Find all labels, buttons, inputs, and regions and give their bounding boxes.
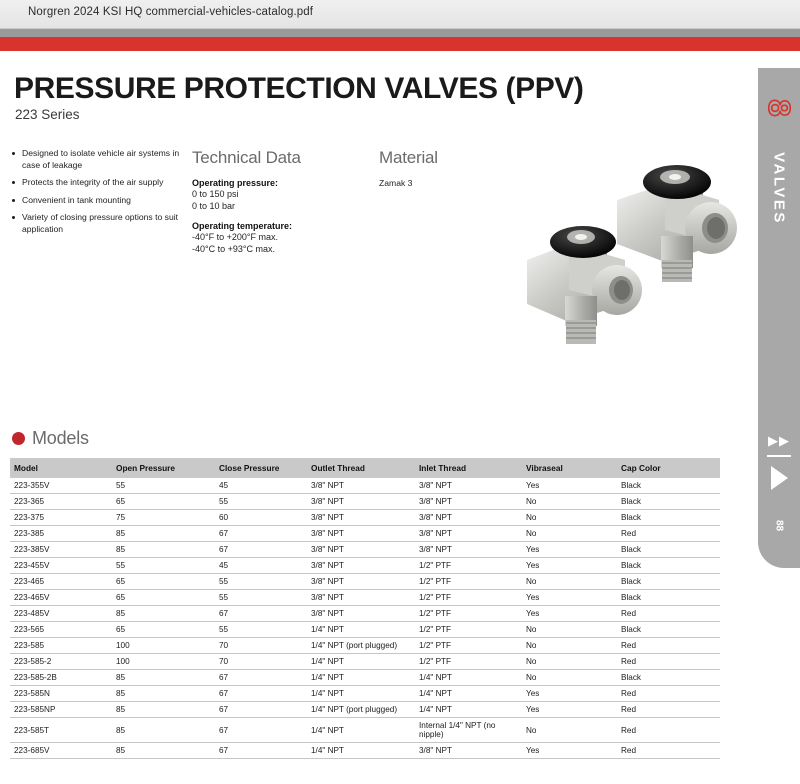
- cell-vibraseal: Yes: [522, 590, 617, 606]
- cell-vibraseal: Yes: [522, 478, 617, 494]
- cell-vibraseal: Yes: [522, 558, 617, 574]
- cell-model: 223-385V: [10, 542, 112, 558]
- list-item: Designed to isolate vehicle air systems …: [10, 148, 185, 171]
- table-row: 223-36565553/8" NPT3/8" NPTNoBlack: [10, 494, 720, 510]
- column-header-close-pressure: Close Pressure: [215, 458, 307, 478]
- cell-outlet-thread: 3/8" NPT: [307, 606, 415, 622]
- cell-cap-color: Black: [617, 558, 720, 574]
- column-header-outlet-thread: Outlet Thread: [307, 458, 415, 478]
- cell-open-pressure: 85: [112, 686, 215, 702]
- cell-vibraseal: No: [522, 654, 617, 670]
- cell-cap-color: Black: [617, 574, 720, 590]
- cell-outlet-thread: 1/4" NPT: [307, 654, 415, 670]
- cell-model: 223-585-2B: [10, 670, 112, 686]
- cell-model: 223-585NP: [10, 702, 112, 718]
- table-body: 223-355V55453/8" NPT3/8" NPTYesBlack223-…: [10, 478, 720, 759]
- cell-model: 223-465: [10, 574, 112, 590]
- models-table: Model Open Pressure Close Pressure Outle…: [10, 458, 720, 759]
- table-row: 223-485V85673/8" NPT1/2" PTFYesRed: [10, 606, 720, 622]
- table-row: 223-585-2100701/4" NPT1/2" PTFNoRed: [10, 654, 720, 670]
- table-row: 223-585-2B85671/4" NPT1/4" NPTNoBlack: [10, 670, 720, 686]
- cell-inlet-thread: 1/2" PTF: [415, 638, 522, 654]
- cell-open-pressure: 65: [112, 574, 215, 590]
- column-header-vibraseal: Vibraseal: [522, 458, 617, 478]
- cell-close-pressure: 67: [215, 686, 307, 702]
- column-header-cap-color: Cap Color: [617, 458, 720, 478]
- cell-close-pressure: 70: [215, 638, 307, 654]
- cell-close-pressure: 60: [215, 510, 307, 526]
- cell-inlet-thread: 3/8" NPT: [415, 743, 522, 759]
- cell-open-pressure: 100: [112, 654, 215, 670]
- table-row: 223-455V55453/8" NPT1/2" PTFYesBlack: [10, 558, 720, 574]
- cell-vibraseal: No: [522, 670, 617, 686]
- viewer-title-bar: Norgren 2024 KSI HQ commercial-vehicles-…: [0, 0, 800, 29]
- operating-temperature-celsius: -40°C to +93°C max.: [192, 244, 372, 256]
- chapter-side-tab: 8 VALVES ▶▶ 88: [758, 68, 800, 568]
- cell-cap-color: Red: [617, 526, 720, 542]
- operating-temperature-label: Operating temperature:: [192, 220, 372, 232]
- cell-vibraseal: No: [522, 638, 617, 654]
- column-header-inlet-thread: Inlet Thread: [415, 458, 522, 478]
- table-row: 223-465V65553/8" NPT1/2" PTFYesBlack: [10, 590, 720, 606]
- cell-outlet-thread: 1/4" NPT (port plugged): [307, 702, 415, 718]
- gray-band-divider: [0, 29, 800, 37]
- cell-open-pressure: 65: [112, 622, 215, 638]
- cell-model: 223-365: [10, 494, 112, 510]
- list-item: Protects the integrity of the air supply: [10, 177, 185, 189]
- table-row: 223-685V85671/4" NPT3/8" NPTYesRed: [10, 743, 720, 759]
- cell-vibraseal: No: [522, 622, 617, 638]
- cell-inlet-thread: 3/8" NPT: [415, 542, 522, 558]
- red-circle-bullet-icon: [12, 432, 25, 445]
- cell-vibraseal: Yes: [522, 702, 617, 718]
- cell-model: 223-565: [10, 622, 112, 638]
- cell-outlet-thread: 3/8" NPT: [307, 478, 415, 494]
- cell-model: 223-455V: [10, 558, 112, 574]
- cell-outlet-thread: 3/8" NPT: [307, 542, 415, 558]
- cell-vibraseal: Yes: [522, 743, 617, 759]
- cell-close-pressure: 70: [215, 654, 307, 670]
- cell-cap-color: Red: [617, 702, 720, 718]
- cell-outlet-thread: 3/8" NPT: [307, 510, 415, 526]
- cell-vibraseal: Yes: [522, 686, 617, 702]
- cell-vibraseal: No: [522, 574, 617, 590]
- cell-cap-color: Black: [617, 670, 720, 686]
- cell-open-pressure: 85: [112, 718, 215, 743]
- cell-inlet-thread: 3/8" NPT: [415, 478, 522, 494]
- cell-close-pressure: 55: [215, 622, 307, 638]
- cell-vibraseal: Yes: [522, 606, 617, 622]
- table-row: 223-37575603/8" NPT3/8" NPTNoBlack: [10, 510, 720, 526]
- cell-cap-color: Red: [617, 743, 720, 759]
- cell-inlet-thread: 1/4" NPT: [415, 686, 522, 702]
- cell-outlet-thread: 3/8" NPT: [307, 526, 415, 542]
- cell-outlet-thread: 3/8" NPT: [307, 574, 415, 590]
- table-row: 223-585N85671/4" NPT1/4" NPTYesRed: [10, 686, 720, 702]
- cell-outlet-thread: 1/4" NPT: [307, 743, 415, 759]
- cell-outlet-thread: 3/8" NPT: [307, 558, 415, 574]
- table-row: 223-585100701/4" NPT (port plugged)1/2" …: [10, 638, 720, 654]
- cell-inlet-thread: 1/2" PTF: [415, 590, 522, 606]
- cell-vibraseal: Yes: [522, 542, 617, 558]
- list-item: Convenient in tank mounting: [10, 195, 185, 207]
- cell-outlet-thread: 3/8" NPT: [307, 590, 415, 606]
- cell-vibraseal: No: [522, 718, 617, 743]
- cell-outlet-thread: 1/4" NPT: [307, 686, 415, 702]
- cell-close-pressure: 45: [215, 558, 307, 574]
- table-row: 223-585T85671/4" NPTInternal 1/4" NPT (n…: [10, 718, 720, 743]
- table-row: 223-585NP85671/4" NPT (port plugged)1/4"…: [10, 702, 720, 718]
- cell-model: 223-375: [10, 510, 112, 526]
- cell-open-pressure: 65: [112, 590, 215, 606]
- cell-inlet-thread: 1/2" PTF: [415, 574, 522, 590]
- models-section-heading: Models: [12, 428, 89, 449]
- cell-inlet-thread: Internal 1/4" NPT (no nipple): [415, 718, 522, 743]
- cell-open-pressure: 100: [112, 638, 215, 654]
- cell-model: 223-585T: [10, 718, 112, 743]
- cell-outlet-thread: 1/4" NPT: [307, 622, 415, 638]
- cell-inlet-thread: 3/8" NPT: [415, 526, 522, 542]
- cell-cap-color: Black: [617, 590, 720, 606]
- table-row: 223-38585673/8" NPT3/8" NPTNoRed: [10, 526, 720, 542]
- cell-model: 223-385: [10, 526, 112, 542]
- cell-close-pressure: 67: [215, 718, 307, 743]
- cell-cap-color: Black: [617, 478, 720, 494]
- cell-close-pressure: 45: [215, 478, 307, 494]
- cell-model: 223-485V: [10, 606, 112, 622]
- cell-close-pressure: 67: [215, 606, 307, 622]
- cell-model: 223-465V: [10, 590, 112, 606]
- cell-inlet-thread: 1/2" PTF: [415, 606, 522, 622]
- list-item: Variety of closing pressure options to s…: [10, 212, 185, 235]
- cell-inlet-thread: 1/2" PTF: [415, 654, 522, 670]
- operating-pressure-psi: 0 to 150 psi: [192, 189, 372, 201]
- cell-open-pressure: 55: [112, 558, 215, 574]
- operating-pressure-label: Operating pressure:: [192, 177, 372, 189]
- operating-pressure-bar: 0 to 10 bar: [192, 201, 372, 213]
- cell-close-pressure: 67: [215, 670, 307, 686]
- models-heading-label: Models: [32, 428, 89, 449]
- column-header-model: Model: [10, 458, 112, 478]
- double-chevron-right-icon[interactable]: ▶▶: [758, 433, 800, 449]
- cell-open-pressure: 75: [112, 510, 215, 526]
- table-row: 223-385V85673/8" NPT3/8" NPTYesBlack: [10, 542, 720, 558]
- red-accent-bar: [0, 37, 800, 51]
- cell-model: 223-585: [10, 638, 112, 654]
- cell-open-pressure: 85: [112, 670, 215, 686]
- cell-outlet-thread: 1/4" NPT: [307, 718, 415, 743]
- cell-close-pressure: 55: [215, 574, 307, 590]
- table-row: 223-56565551/4" NPT1/2" PTFNoBlack: [10, 622, 720, 638]
- cell-outlet-thread: 1/4" NPT: [307, 670, 415, 686]
- cell-model: 223-585-2: [10, 654, 112, 670]
- cell-close-pressure: 67: [215, 743, 307, 759]
- cell-inlet-thread: 3/8" NPT: [415, 494, 522, 510]
- cell-cap-color: Red: [617, 654, 720, 670]
- cell-open-pressure: 85: [112, 606, 215, 622]
- cell-open-pressure: 55: [112, 478, 215, 494]
- cell-close-pressure: 67: [215, 542, 307, 558]
- cell-inlet-thread: 1/2" PTF: [415, 558, 522, 574]
- chapter-label: VALVES: [771, 124, 788, 254]
- page-title: PRESSURE PROTECTION VALVES (PPV): [14, 72, 584, 106]
- page-subtitle: 223 Series: [15, 107, 80, 122]
- cell-cap-color: Red: [617, 606, 720, 622]
- cell-open-pressure: 85: [112, 526, 215, 542]
- cell-inlet-thread: 3/8" NPT: [415, 510, 522, 526]
- cell-cap-color: Black: [617, 622, 720, 638]
- cell-open-pressure: 65: [112, 494, 215, 510]
- cell-vibraseal: No: [522, 494, 617, 510]
- divider: [767, 455, 791, 457]
- cell-open-pressure: 85: [112, 702, 215, 718]
- feature-bullet-list: Designed to isolate vehicle air systems …: [10, 148, 185, 241]
- cell-model: 223-355V: [10, 478, 112, 494]
- cell-open-pressure: 85: [112, 743, 215, 759]
- cell-close-pressure: 67: [215, 702, 307, 718]
- cell-close-pressure: 67: [215, 526, 307, 542]
- document-page: Norgren 2024 KSI HQ commercial-vehicles-…: [0, 0, 800, 784]
- cell-cap-color: Red: [617, 686, 720, 702]
- cell-model: 223-585N: [10, 686, 112, 702]
- cell-inlet-thread: 1/2" PTF: [415, 622, 522, 638]
- cell-cap-color: Black: [617, 510, 720, 526]
- cell-vibraseal: No: [522, 510, 617, 526]
- cell-cap-color: Red: [617, 718, 720, 743]
- cell-close-pressure: 55: [215, 590, 307, 606]
- cell-cap-color: Black: [617, 542, 720, 558]
- cell-cap-color: Black: [617, 494, 720, 510]
- technical-data-heading: Technical Data: [192, 148, 372, 168]
- table-row: 223-355V55453/8" NPT3/8" NPTYesBlack: [10, 478, 720, 494]
- cell-model: 223-685V: [10, 743, 112, 759]
- document-filename: Norgren 2024 KSI HQ commercial-vehicles-…: [28, 6, 313, 18]
- cell-vibraseal: No: [522, 526, 617, 542]
- product-photo: [505, 140, 750, 355]
- operating-temperature-fahrenheit: -40°F to +200°F max.: [192, 232, 372, 244]
- table-row: 223-46565553/8" NPT1/2" PTFNoBlack: [10, 574, 720, 590]
- cell-open-pressure: 85: [112, 542, 215, 558]
- technical-data-section: Technical Data Operating pressure: 0 to …: [192, 148, 372, 255]
- cell-outlet-thread: 3/8" NPT: [307, 494, 415, 510]
- cell-cap-color: Red: [617, 638, 720, 654]
- cell-inlet-thread: 1/4" NPT: [415, 702, 522, 718]
- cell-outlet-thread: 1/4" NPT (port plugged): [307, 638, 415, 654]
- play-triangle-icon[interactable]: [771, 466, 788, 490]
- column-header-open-pressure: Open Pressure: [112, 458, 215, 478]
- page-number: 88: [774, 505, 785, 547]
- spacer: [192, 212, 372, 220]
- cell-inlet-thread: 1/4" NPT: [415, 670, 522, 686]
- table-header-row: Model Open Pressure Close Pressure Outle…: [10, 458, 720, 478]
- cell-close-pressure: 55: [215, 494, 307, 510]
